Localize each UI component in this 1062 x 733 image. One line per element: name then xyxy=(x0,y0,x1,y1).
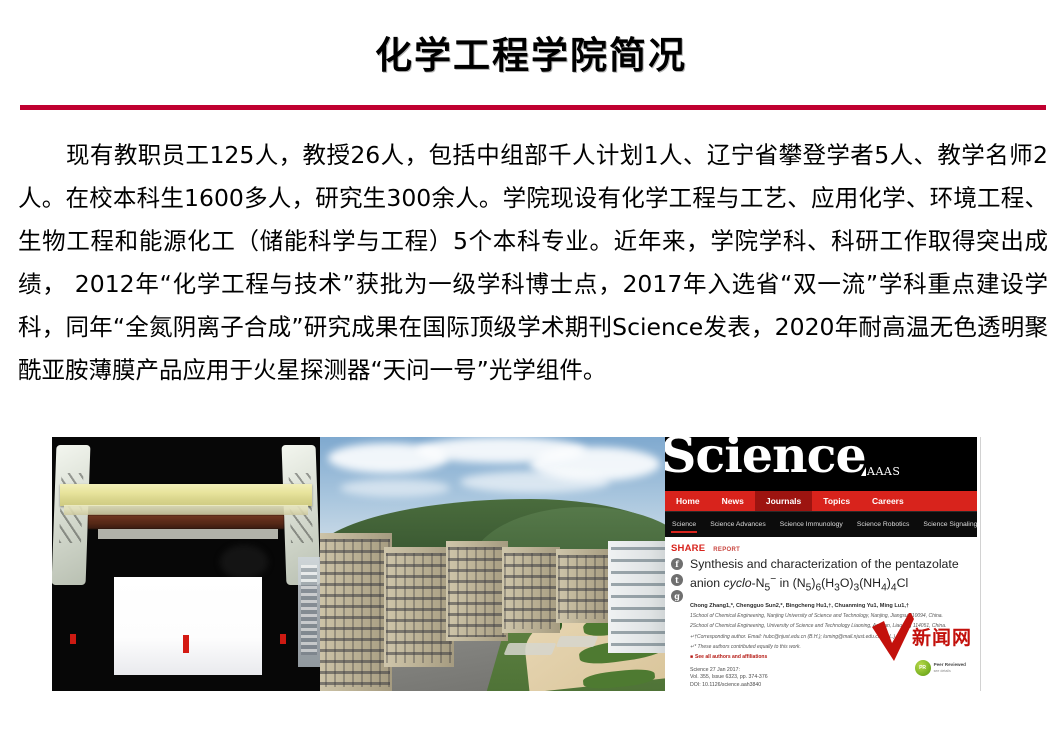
title-divider-rule xyxy=(20,105,1046,110)
campus-path-patch xyxy=(556,636,598,647)
film-background-blob xyxy=(220,545,268,579)
article-title-part5: O) xyxy=(840,576,854,590)
science-masthead: Science AAAS xyxy=(665,437,977,491)
film-red-marker-left xyxy=(70,634,76,644)
campus-cloud xyxy=(340,479,450,497)
nav-item-topics[interactable]: Topics xyxy=(812,491,861,511)
share-label: SHARE xyxy=(671,543,705,554)
article-title-part2: -N xyxy=(752,576,765,590)
nav-item-journals[interactable]: Journals xyxy=(755,491,812,511)
film-red-marker xyxy=(183,635,189,653)
film-side-equipment xyxy=(298,557,320,667)
campus-aerial-photo xyxy=(320,437,665,691)
article-authors[interactable]: Chong Zhang1,*, Chengguo Sun2,*, Bingche… xyxy=(690,602,972,610)
campus-building-white xyxy=(608,541,665,653)
share-row: SHARE REPORT xyxy=(671,543,972,554)
aaas-logo: AAAS xyxy=(861,465,900,478)
aaas-label: AAAS xyxy=(867,465,900,478)
subnav-item-science-robotics[interactable]: Science Robotics xyxy=(850,512,917,537)
film-holder-left-icon xyxy=(52,445,90,585)
campus-path-patch xyxy=(504,643,557,655)
page-title: 化学工程学院简况 xyxy=(0,36,1062,77)
news-site-watermark: 新闻网 xyxy=(870,613,972,665)
nav-item-home[interactable]: Home xyxy=(665,491,711,511)
googleplus-share-icon[interactable]: g xyxy=(671,590,683,602)
article-title-italic: cyclo xyxy=(724,576,752,590)
red-check-icon xyxy=(870,613,916,665)
science-secondary-nav: Science Science Advances Science Immunol… xyxy=(665,511,977,537)
film-brown-band xyxy=(88,515,284,529)
film-red-marker-right xyxy=(280,634,286,644)
facebook-share-icon[interactable]: f xyxy=(671,558,683,570)
citation-line-3: DOI: 10.1126/science.aah3840 xyxy=(690,682,972,690)
article-title-part3: in (N xyxy=(776,576,805,590)
watermark-text: 新闻网 xyxy=(912,623,972,650)
campus-building xyxy=(320,533,392,691)
image-row: Science AAAS Home News Journals Topics C… xyxy=(52,437,980,691)
film-strip xyxy=(60,484,312,506)
article-title-part8: Cl xyxy=(897,576,909,590)
body-paragraph: 现有教职员工125人，教授26人，包括中组部千人计划1人、辽宁省攀登学者5人、教… xyxy=(18,134,1048,392)
campus-building xyxy=(502,547,560,633)
nav-item-news[interactable]: News xyxy=(711,491,755,511)
nav-item-careers[interactable]: Careers xyxy=(861,491,915,511)
article-title-part6: (NH xyxy=(859,576,881,590)
share-icon-column: f t g xyxy=(671,557,683,689)
twitter-share-icon[interactable]: t xyxy=(671,574,683,586)
article-title[interactable]: Synthesis and characterization of the pe… xyxy=(690,557,972,596)
science-primary-nav: Home News Journals Topics Careers xyxy=(665,491,977,511)
peer-review-sub: see details xyxy=(934,668,966,674)
campus-building xyxy=(556,549,610,623)
subnav-item-science[interactable]: Science xyxy=(665,512,703,537)
science-website-screenshot: Science AAAS Home News Journals Topics C… xyxy=(665,437,981,691)
campus-building xyxy=(384,547,454,667)
film-shelf xyxy=(98,529,278,539)
subnav-item-science-immunology[interactable]: Science Immunology xyxy=(773,512,850,537)
subnav-item-science-advances[interactable]: Science Advances xyxy=(703,512,773,537)
campus-cloud xyxy=(460,471,610,493)
article-title-part4: (H xyxy=(821,576,834,590)
film-white-paper xyxy=(114,577,262,675)
science-logo[interactable]: Science xyxy=(665,437,866,480)
subnav-item-science-signaling[interactable]: Science Signaling xyxy=(916,512,981,537)
report-type-label: REPORT xyxy=(713,547,740,553)
film-strip-secondary xyxy=(64,505,308,515)
polyimide-film-photo xyxy=(52,437,320,691)
campus-building xyxy=(446,541,508,641)
